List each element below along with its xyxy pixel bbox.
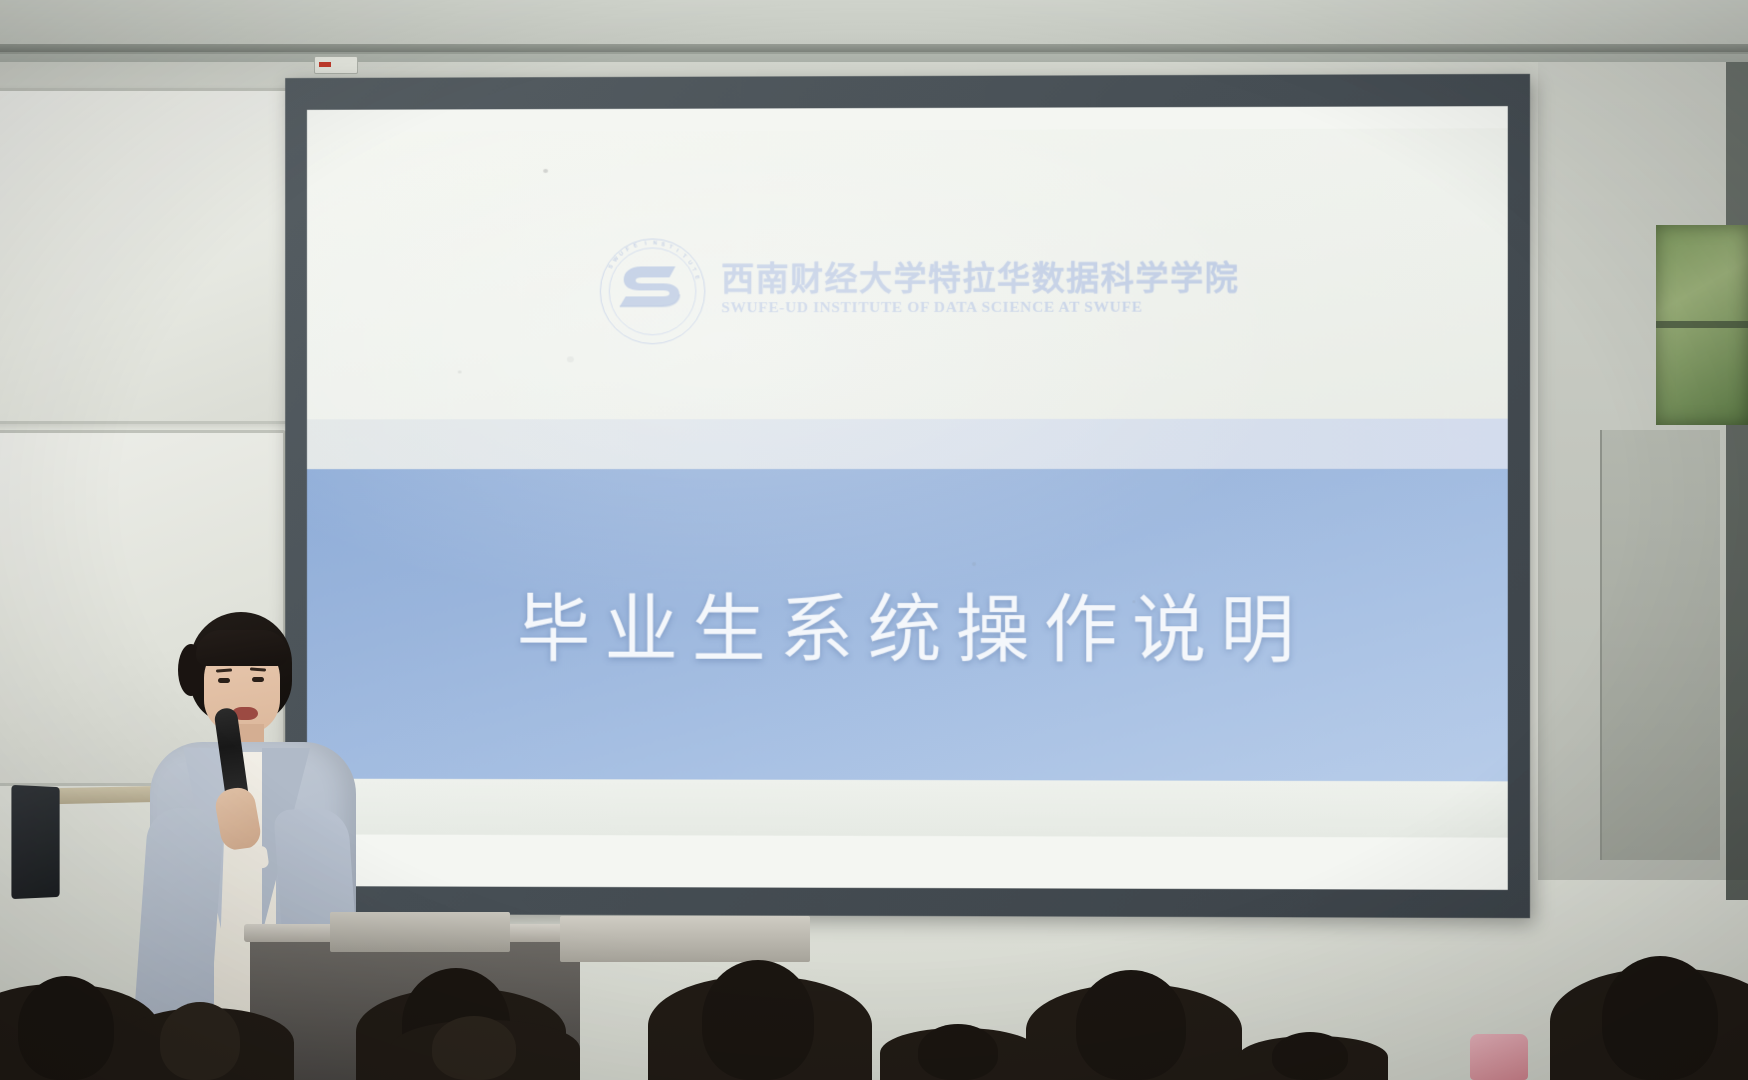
- audience-head: [432, 1016, 516, 1080]
- presenter-fringe: [196, 630, 288, 666]
- slide-title: 毕业生系统操作说明: [307, 570, 1508, 678]
- seal-ring-text: S W U F E I N S T I T U T: [600, 238, 704, 342]
- pink-bag: [1470, 1034, 1528, 1080]
- audience: [0, 850, 1748, 1080]
- audience-head: [1602, 956, 1718, 1080]
- projection-screen-surface: S W U F E I N S T I T U T: [307, 106, 1508, 890]
- desk-row-back: [330, 912, 510, 952]
- window: [1656, 225, 1748, 425]
- ceiling-rail: [0, 44, 1748, 52]
- projection-screen-frame: S W U F E I N S T I T U T: [285, 74, 1530, 918]
- institute-name-en: SWUFE-UD INSTITUTE OF DATA SCIENCE AT SW…: [721, 299, 1239, 318]
- audience-head: [18, 976, 114, 1080]
- ceiling: [0, 0, 1748, 62]
- institute-logo-lockup: S W U F E I N S T I T U T: [600, 237, 1240, 342]
- presenter-eye-left: [218, 678, 230, 683]
- audience-head: [1076, 970, 1186, 1080]
- institute-seal-icon: S W U F E I N S T I T U T: [600, 238, 704, 342]
- slide-bottom-strip: [307, 778, 1508, 837]
- presentation-slide: S W U F E I N S T I T U T: [307, 128, 1508, 837]
- institute-name-cn: 西南财经大学特拉华数据科学学院: [721, 262, 1239, 298]
- presenter-eye-right: [252, 677, 264, 682]
- audience-head: [160, 1002, 240, 1080]
- whiteboard-upper: [0, 88, 296, 424]
- desk-row-front: [560, 916, 810, 962]
- ceiling-sensor-icon: [314, 56, 358, 74]
- institute-name-block: 西南财经大学特拉华数据科学学院 SWUFE-UD INSTITUTE OF DA…: [721, 262, 1239, 318]
- audience-head: [918, 1024, 998, 1080]
- window-mullion: [1656, 321, 1748, 328]
- right-wall-edge: [1726, 60, 1748, 900]
- audience-head: [702, 960, 814, 1080]
- lecture-hall-photo: S W U F E I N S T I T U T: [0, 0, 1748, 1080]
- slide-pale-band: [307, 419, 1508, 469]
- right-door: [1600, 430, 1720, 860]
- audience-head: [1272, 1032, 1348, 1080]
